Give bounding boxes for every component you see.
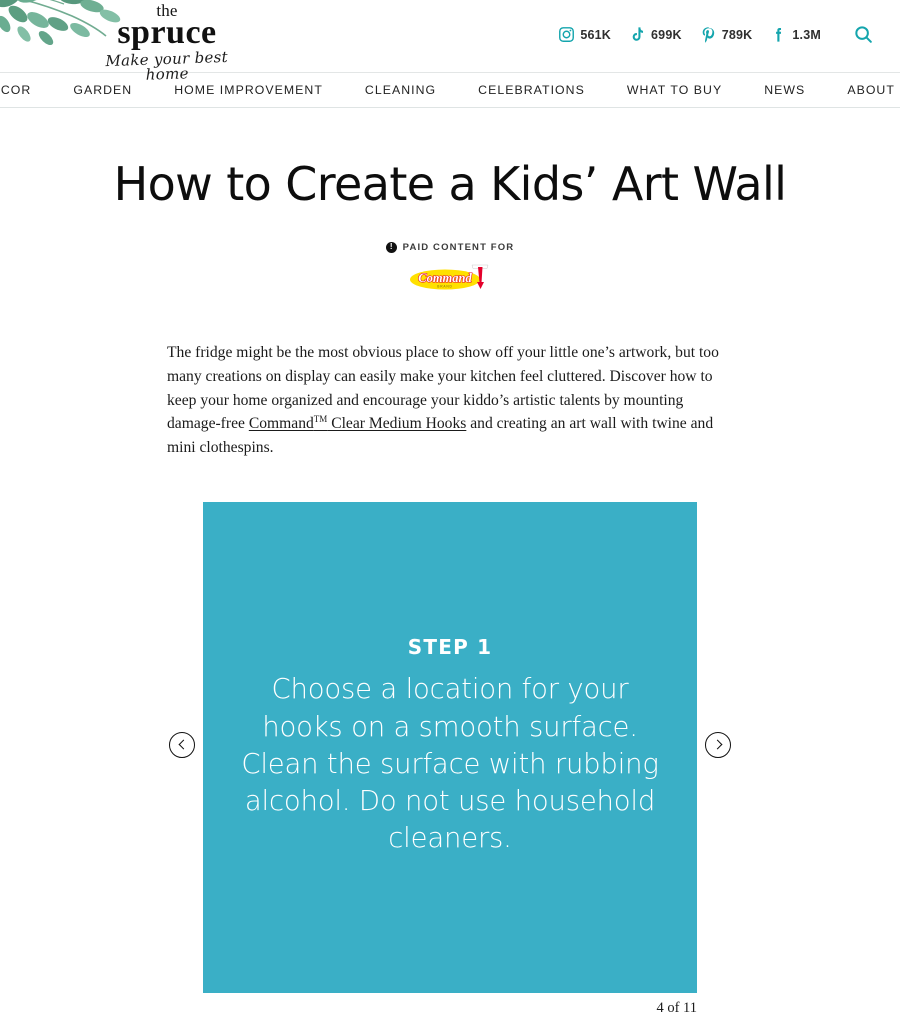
link-text-command: Command xyxy=(249,415,314,432)
nav-item-decor[interactable]: DECOR xyxy=(0,83,52,97)
info-icon[interactable]: ! xyxy=(386,242,397,253)
site-header: the spruce Make your best home 561K 699K… xyxy=(0,0,900,72)
logo-tagline: Make your best home xyxy=(82,49,253,85)
nav-item-home-improvement[interactable]: HOME IMPROVEMENT xyxy=(153,83,344,97)
carousel-next-button[interactable] xyxy=(705,732,731,758)
command-logo-art: Command BRAND xyxy=(408,263,492,293)
carousel-prev-button[interactable] xyxy=(169,732,195,758)
article-body-paragraph: The fridge might be the most obvious pla… xyxy=(167,341,733,459)
social-link-tiktok[interactable]: 699K xyxy=(629,26,682,43)
tiktok-icon xyxy=(629,26,646,43)
social-link-facebook[interactable]: 1.3M xyxy=(770,26,821,43)
carousel-slide[interactable]: STEP 1 Choose a location for your hooks … xyxy=(203,502,697,993)
svg-text:BRAND: BRAND xyxy=(437,285,452,289)
paid-content-text: PAID CONTENT FOR xyxy=(403,242,515,253)
paid-content-label[interactable]: ! PAID CONTENT FOR xyxy=(386,242,515,253)
search-icon xyxy=(853,24,874,45)
nav-item-garden[interactable]: GARDEN xyxy=(52,83,153,97)
social-link-instagram[interactable]: 561K xyxy=(558,26,611,43)
command-hooks-link[interactable]: CommandTM Clear Medium Hooks xyxy=(249,415,467,432)
site-logo[interactable]: the spruce Make your best home xyxy=(82,2,252,82)
social-links: 561K 699K 789K 1.3M xyxy=(558,24,874,45)
trademark-mark: TM xyxy=(314,414,328,424)
carousel-counter: 4 of 11 xyxy=(203,1000,697,1017)
social-link-pinterest[interactable]: 789K xyxy=(700,26,753,43)
chevron-right-icon xyxy=(712,740,722,750)
instagram-count: 561K xyxy=(580,28,611,42)
svg-text:Command: Command xyxy=(418,271,472,285)
nav-item-what-to-buy[interactable]: WHAT TO BUY xyxy=(606,83,743,97)
nav-item-about-us[interactable]: ABOUT US xyxy=(826,83,900,97)
pinterest-icon xyxy=(700,26,717,43)
step-description: Choose a location for your hooks on a sm… xyxy=(237,671,663,857)
search-button[interactable] xyxy=(853,24,874,45)
link-text-hooks: Clear Medium Hooks xyxy=(327,415,466,432)
facebook-count: 1.3M xyxy=(792,28,821,42)
page-title: How to Create a Kids’ Art Wall xyxy=(0,160,900,208)
sponsor-block: ! PAID CONTENT FOR Command BRAND xyxy=(0,236,900,293)
pinterest-count: 789K xyxy=(722,28,753,42)
tiktok-count: 699K xyxy=(651,28,682,42)
nav-item-celebrations[interactable]: CELEBRATIONS xyxy=(457,83,606,97)
command-brand-logo[interactable]: Command BRAND xyxy=(408,263,492,293)
nav-item-news[interactable]: NEWS xyxy=(743,83,826,97)
chevron-left-icon xyxy=(178,740,188,750)
instagram-icon xyxy=(558,26,575,43)
step-label: STEP 1 xyxy=(408,637,492,657)
nav-item-cleaning[interactable]: CLEANING xyxy=(344,83,457,97)
article: How to Create a Kids’ Art Wall ! PAID CO… xyxy=(0,160,900,1002)
logo-spruce: spruce xyxy=(82,16,252,51)
step-carousel: STEP 1 Choose a location for your hooks … xyxy=(0,502,900,1002)
facebook-icon xyxy=(770,26,787,43)
